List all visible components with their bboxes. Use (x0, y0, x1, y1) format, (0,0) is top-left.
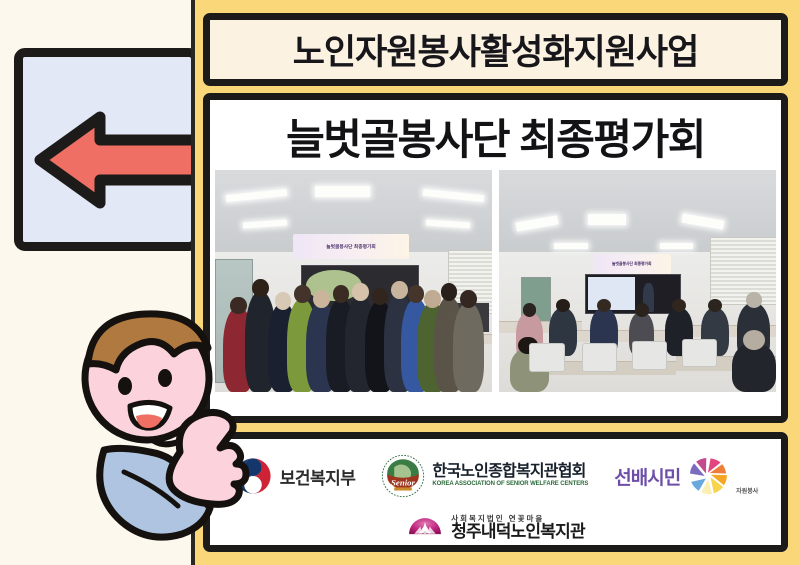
attendee-head (708, 299, 722, 312)
lotus-icon (406, 509, 444, 547)
program-name-text: 노인자원봉사활성화지원사업 (293, 24, 699, 75)
event-banner-text: 늘벗골봉사단 최종평가회 (612, 261, 652, 267)
ceiling-light (588, 214, 627, 225)
ceiling-light (315, 186, 370, 197)
svg-text:Senior: Senior (391, 478, 416, 488)
attendee-head (408, 285, 425, 303)
logo-kasw: Senior 한국노인종합복지관협회 KOREA ASSOCIATION OF … (381, 454, 588, 498)
logo-cheongju-naedeok: 사회복지법인 연꽃마을 청주내덕노인복지관 (406, 509, 585, 547)
chair (582, 343, 617, 372)
page-title: 늘벗골봉사단 최종평가회 (210, 100, 781, 172)
event-banner: 늘벗골봉사단 최종평가회 (593, 254, 671, 274)
chair (529, 343, 564, 372)
attendee (453, 303, 483, 392)
attendee-head (556, 299, 570, 312)
logo-yeon-label-bottom: 청주내덕노인복지관 (451, 523, 585, 541)
pointing-hand (169, 412, 246, 504)
logo-mohw-label: 보건복지부 (280, 464, 356, 489)
attendee-head (460, 290, 477, 308)
sponsor-logos-row-1: 보건복지부 Senior 한국노인종합복지관협회 KOREA ASSOCIATI… (210, 447, 781, 505)
program-name-band: 노인자원봉사활성화지원사업 (203, 13, 788, 86)
left-arrow-icon[interactable] (28, 105, 214, 215)
logo-kasw-label-ko: 한국노인종합복지관협회 (432, 464, 588, 481)
pointing-boy-character (52, 302, 267, 552)
logo-senior-citizen: 선배시민 자원봉사 (614, 455, 758, 497)
attendee-head (523, 303, 537, 316)
slide-content (588, 277, 635, 310)
ceiling-light (660, 243, 693, 249)
attendee-head (743, 330, 765, 350)
attendee-head (391, 281, 408, 299)
sponsor-logos-row-2: 사회복지법인 연꽃마을 청주내덕노인복지관 (210, 505, 781, 551)
back-arrow-box (14, 48, 200, 251)
event-banner: 늘벗골봉사단 최종평가회 (293, 234, 409, 258)
chair (682, 339, 717, 368)
ceiling-light (554, 243, 587, 249)
sponsor-logos-panel: 보건복지부 Senior 한국노인종합복지관협회 KOREA ASSOCIATI… (203, 432, 788, 552)
attendee-head (672, 299, 686, 312)
chair (632, 341, 667, 370)
eye (158, 369, 172, 387)
senior-emblem-icon: Senior (381, 454, 425, 498)
pinwheel-icon (687, 455, 729, 497)
logo-senior-citizen-sub: 자원봉사 (736, 486, 758, 495)
attendee (732, 343, 776, 392)
attendee-head (275, 292, 292, 310)
attendee-head (635, 303, 649, 316)
main-content-panel: 늘벗골봉사단 최종평가회 늘벗골봉사단 최종평가회 (203, 93, 788, 423)
lecture-photo[interactable]: 늘벗골봉사단 최종평가회 (499, 170, 776, 392)
attendee-head (424, 290, 441, 308)
logo-senior-citizen-label: 선배시민 (614, 463, 680, 490)
eye (118, 377, 132, 395)
attendee-head (352, 283, 369, 301)
attendee-head (313, 290, 330, 308)
attendee-head (294, 285, 311, 303)
photo-row: 늘벗골봉사단 최종평가회 (210, 170, 781, 392)
window-blind (710, 237, 776, 306)
attendee-head (746, 292, 763, 308)
logo-kasw-label-en: KOREA ASSOCIATION OF SENIOR WELFARE CENT… (432, 481, 588, 487)
event-banner-text: 늘벗골봉사단 최종평가회 (326, 243, 375, 250)
attendee-head (252, 279, 269, 297)
